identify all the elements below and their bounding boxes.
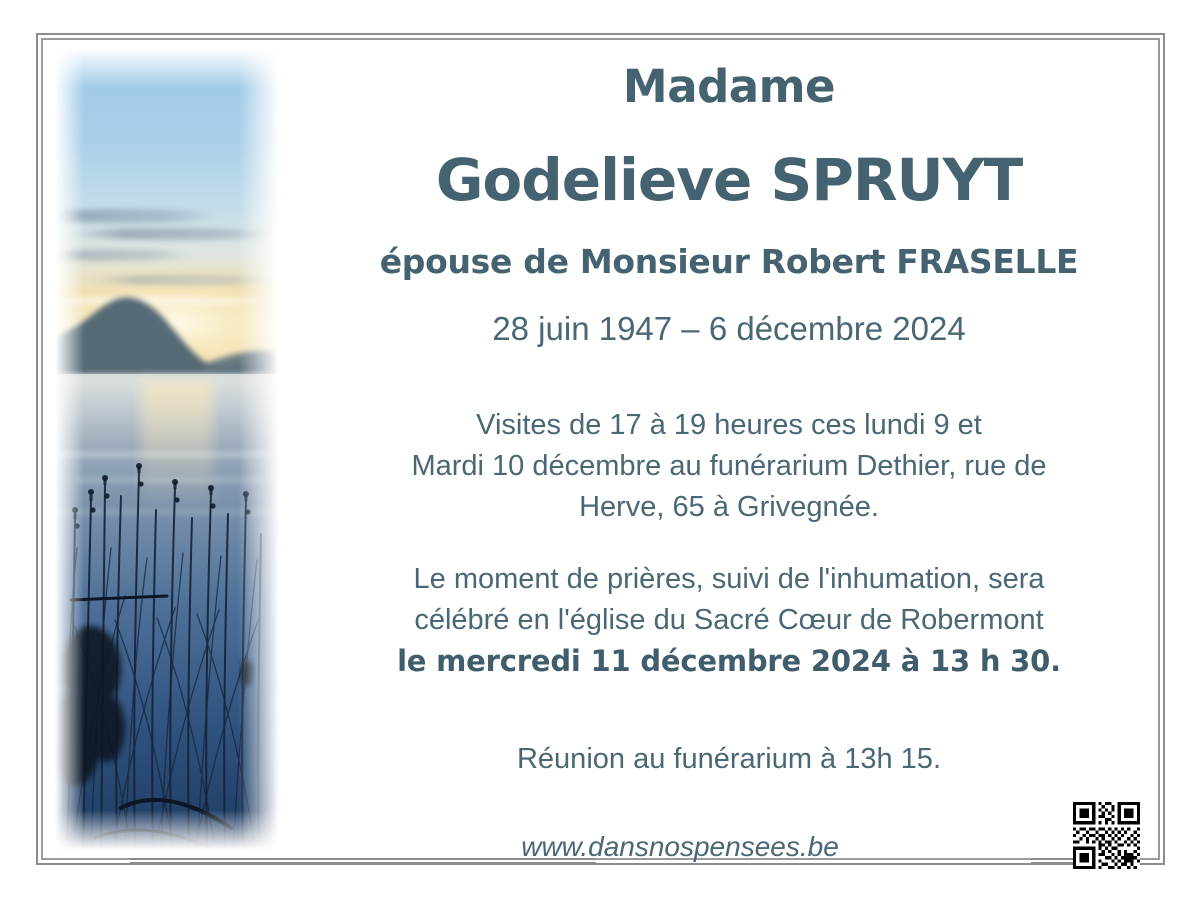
honorific: Madame xyxy=(300,64,1158,109)
service-intro: Le moment de prières, suivi de l'inhumat… xyxy=(414,563,1045,636)
notice-text: Madame Godelieve SPRUYT épouse de Monsie… xyxy=(300,42,1158,832)
website-url[interactable]: www.dansnospensees.be xyxy=(300,833,1060,861)
gathering-note: Réunion au funérarium à 13h 15. xyxy=(300,739,1158,780)
qr-code[interactable] xyxy=(1073,802,1140,869)
spouse-line: épouse de Monsieur Robert FRASELLE xyxy=(300,245,1158,278)
photo-canvas xyxy=(55,48,279,850)
visiting-hours: Visites de 17 à 19 heures ces lundi 9 et… xyxy=(300,405,1158,529)
life-dates: 28 juin 1947 – 6 décembre 2024 xyxy=(300,312,1158,345)
page-title: Godelieve SPRUYT xyxy=(300,151,1158,209)
service-datetime: le mercredi 11 décembre 2024 à 13 h 30. xyxy=(397,644,1061,678)
memorial-photo xyxy=(45,42,289,856)
memorial-card: Madame Godelieve SPRUYT épouse de Monsie… xyxy=(0,0,1201,918)
service-details: Le moment de prières, suivi de l'inhumat… xyxy=(300,559,1158,684)
